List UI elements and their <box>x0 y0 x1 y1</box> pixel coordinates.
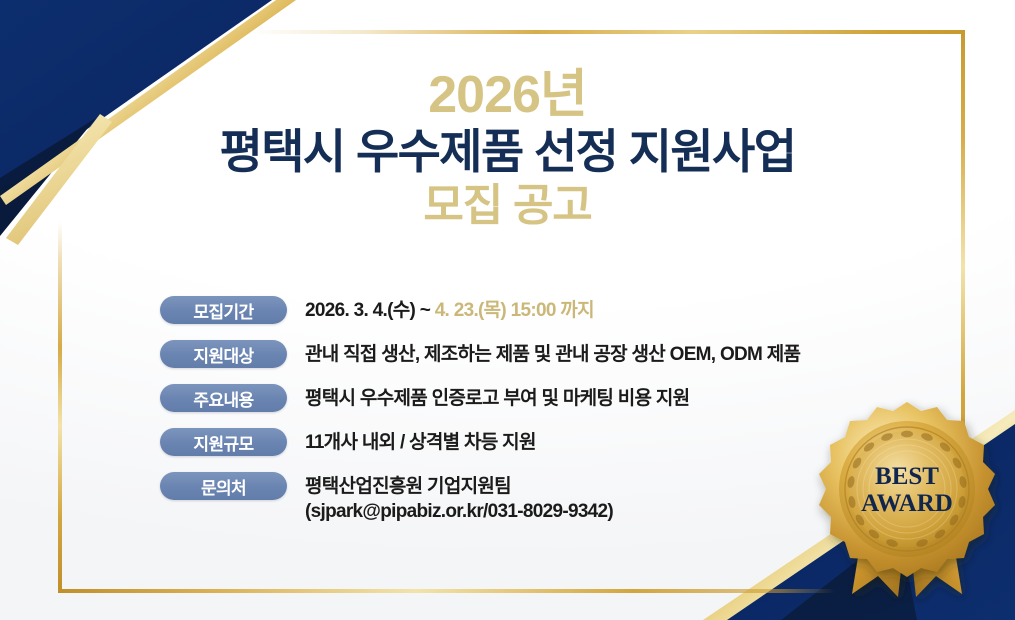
info-row-value: 2026. 3. 4.(수) ~ 4. 23.(목) 15:00 까지 <box>305 296 594 323</box>
headline-subtitle: 모집 공고 <box>0 183 1015 229</box>
poster-canvas: 2026년 평택시 우수제품 선정 지원사업 모집 공고 모집기간 2026. … <box>0 0 1015 620</box>
info-row: 지원대상 관내 직접 생산, 제조하는 제품 및 관내 공장 생산 OEM, O… <box>160 340 800 368</box>
info-row-value-plain: 2026. 3. 4.(수) ~ <box>305 300 435 321</box>
best-award-badge: BEST AWARD <box>812 398 1002 604</box>
info-row-value: 평택산업진흥원 기업지원팀 (sjpark@pipabiz.or.kr/031-… <box>305 472 613 524</box>
info-row-label-pill: 주요내용 <box>160 384 287 412</box>
info-row-value-contact: (sjpark@pipabiz.or.kr/031-8029-9342) <box>305 499 613 524</box>
info-row-value: 평택시 우수제품 인증로고 부여 및 마케팅 비용 지원 <box>305 384 689 411</box>
info-row-label-pill: 지원대상 <box>160 340 287 368</box>
headline-year: 2026년 <box>0 68 1015 122</box>
info-row-label-pill: 문의처 <box>160 472 287 500</box>
info-row-label-pill: 지원규모 <box>160 428 287 456</box>
info-row: 주요내용 평택시 우수제품 인증로고 부여 및 마케팅 비용 지원 <box>160 384 800 412</box>
badge-text-line1: BEST <box>875 463 939 490</box>
info-row: 문의처 평택산업진흥원 기업지원팀 (sjpark@pipabiz.or.kr/… <box>160 472 800 524</box>
info-row: 모집기간 2026. 3. 4.(수) ~ 4. 23.(목) 15:00 까지 <box>160 296 800 324</box>
info-row-value: 관내 직접 생산, 제조하는 제품 및 관내 공장 생산 OEM, ODM 제품 <box>305 340 800 367</box>
info-row-value-plain: 평택산업진흥원 기업지원팀 <box>305 476 511 497</box>
info-row-value-plain: 평택시 우수제품 인증로고 부여 및 마케팅 비용 지원 <box>305 388 689 409</box>
info-row-value-plain: 11개사 내외 / 상격별 차등 지원 <box>305 432 536 453</box>
info-row-value-plain: 관내 직접 생산, 제조하는 제품 및 관내 공장 생산 OEM, ODM 제품 <box>305 344 800 365</box>
badge-text-line2: AWARD <box>861 490 953 517</box>
info-rows-list: 모집기간 2026. 3. 4.(수) ~ 4. 23.(목) 15:00 까지… <box>160 296 800 524</box>
poster-headline: 2026년 평택시 우수제품 선정 지원사업 모집 공고 <box>0 68 1015 229</box>
headline-main-title: 평택시 우수제품 선정 지원사업 <box>0 128 1015 177</box>
info-row-value: 11개사 내외 / 상격별 차등 지원 <box>305 428 536 455</box>
info-row: 지원규모 11개사 내외 / 상격별 차등 지원 <box>160 428 800 456</box>
info-row-value-accent: 4. 23.(목) 15:00 까지 <box>435 300 594 321</box>
info-row-label-pill: 모집기간 <box>160 296 287 324</box>
